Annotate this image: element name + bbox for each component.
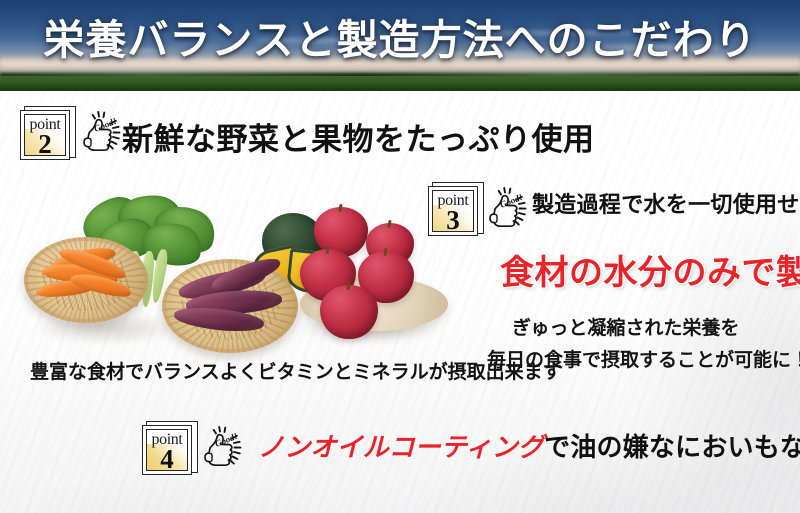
- badge-number: 4: [147, 445, 187, 471]
- promo-banner: 栄養バランスと製造方法へのこだわり point 2: [0, 0, 800, 513]
- point-4-headline-red: ノンオイルコーティング: [258, 433, 544, 462]
- point-3-subtext-line1: ぎゅっと凝縮された栄養を: [512, 316, 739, 342]
- header-banner: 栄養バランスと製造方法へのこだわり: [0, 0, 800, 91]
- point-4-headline-black: で油の嫌なにおいもなし！: [544, 433, 800, 462]
- green-field: [0, 76, 800, 91]
- point-2-headline: 新鮮な野菜と果物をたっぷり使用: [122, 120, 595, 160]
- point-3-emphasis: 食材の水分のみで製造: [500, 252, 800, 296]
- thumbs-up-good-icon: Good!: [486, 187, 538, 233]
- badge-inner: point 2: [24, 114, 66, 156]
- good-icon-text: Good!: [93, 116, 119, 134]
- badge-frame: point 4: [142, 425, 192, 475]
- point-badge-2: point 2: [20, 106, 74, 160]
- badge-frame: point 3: [428, 186, 478, 236]
- badge-frame: point 2: [20, 110, 70, 160]
- food-photo: [14, 193, 464, 363]
- page-title: 栄養バランスと製造方法へのこだわり: [0, 10, 800, 70]
- point-badge-4: point 4: [142, 421, 196, 475]
- badge-inner: point 4: [146, 429, 188, 471]
- good-icon-text: Good!: [499, 192, 525, 210]
- photo-caption: 豊富な食材でバランスよくビタミンとミネラルが摂取出来ます: [30, 360, 562, 386]
- thumbs-up-good-icon: Good!: [201, 426, 253, 472]
- badge-inner: point 3: [432, 190, 474, 232]
- good-icon-text: Good!: [214, 431, 240, 449]
- point-badge-3: point 3: [428, 182, 482, 236]
- point-3-headline: 製造過程で水を一切使用せず、: [532, 190, 800, 220]
- point-4-headline: ノンオイルコーティングで油の嫌なにおいもなし！: [258, 430, 800, 466]
- badge-number: 3: [433, 206, 473, 232]
- badge-number: 2: [25, 130, 65, 156]
- apple: [320, 285, 378, 339]
